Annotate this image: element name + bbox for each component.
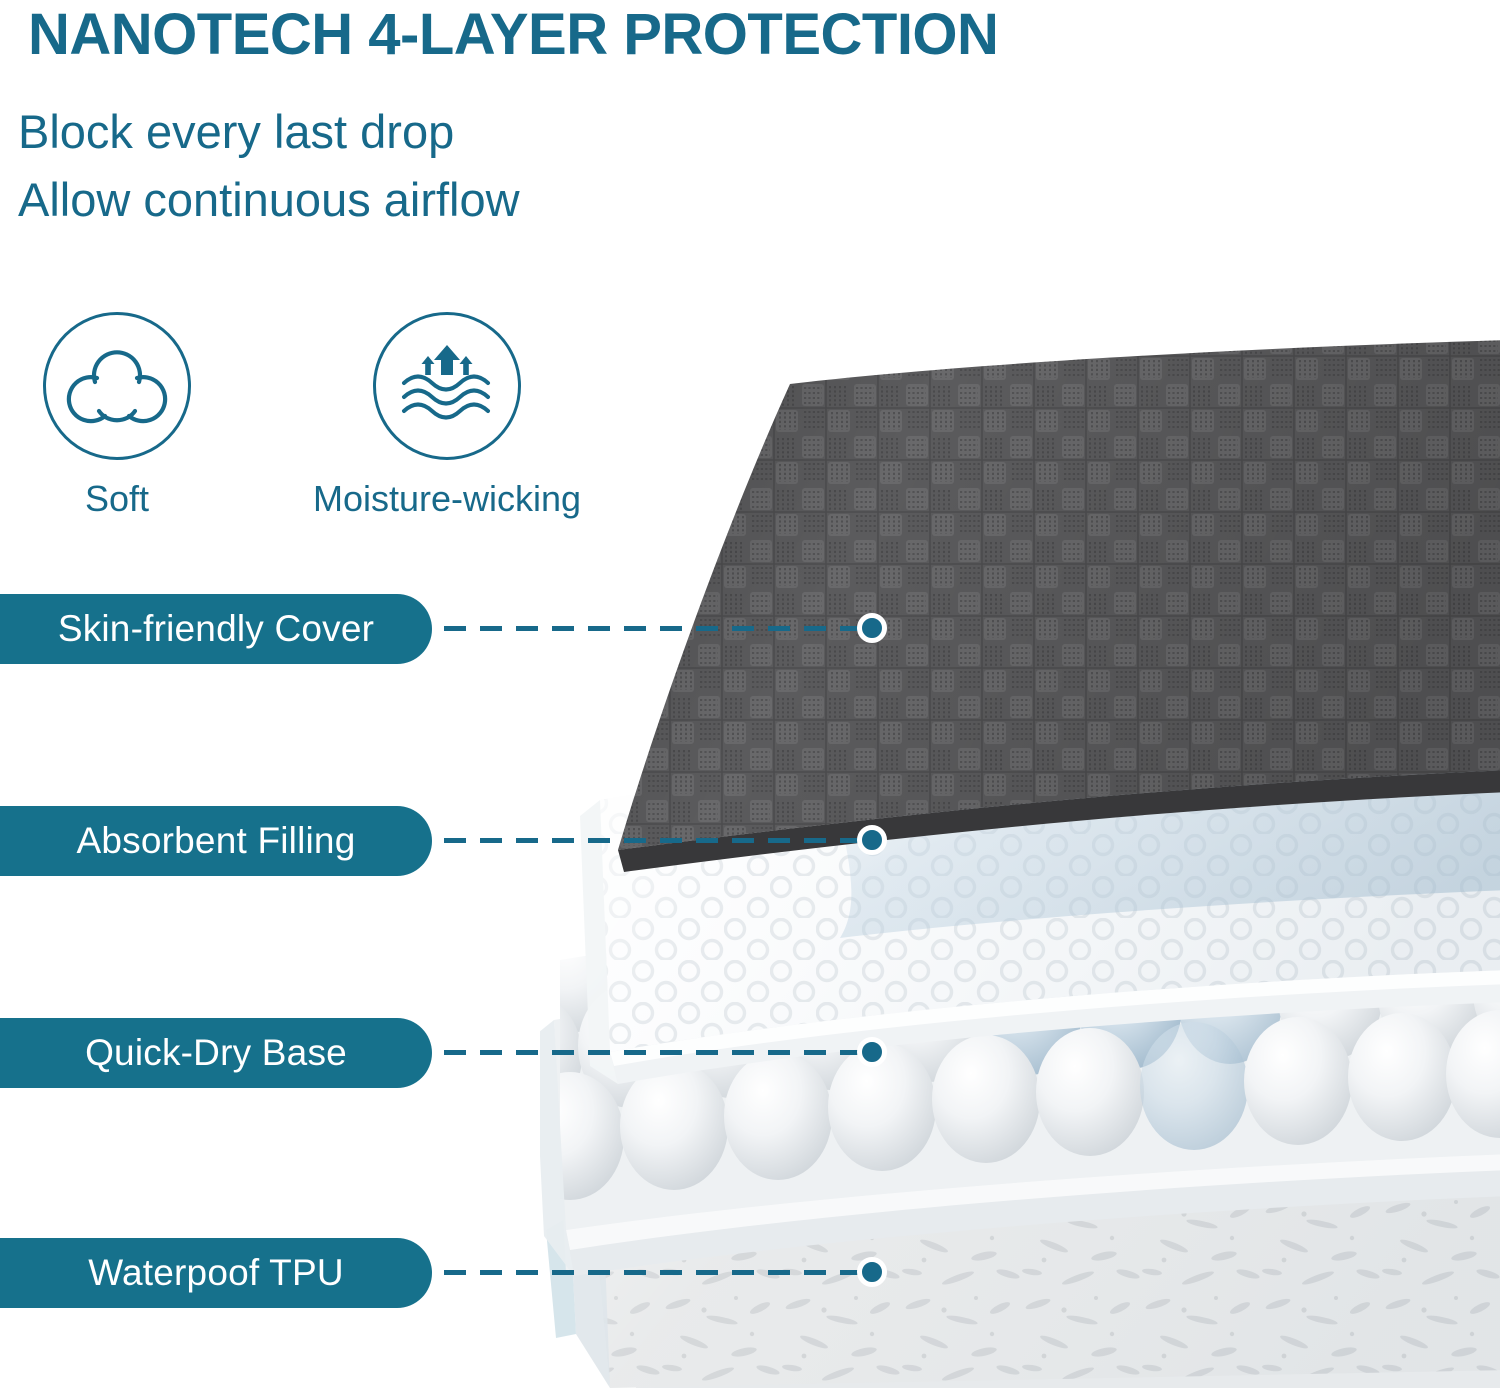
layer-skin-friendly-cover <box>618 340 1500 872</box>
subtitle-line-2: Allow continuous airflow <box>18 172 520 227</box>
feature-soft-label: Soft <box>42 478 192 520</box>
connector-dot-waterproof-tpu <box>857 1257 887 1287</box>
subtitle-line-1: Block every last drop <box>18 104 454 159</box>
connector-dot-absorbent-filling <box>857 825 887 855</box>
layer-label-skin-friendly-cover[interactable]: Skin-friendly Cover <box>0 594 432 664</box>
layer-label-absorbent-filling[interactable]: Absorbent Filling <box>0 806 432 876</box>
feature-soft: Soft <box>42 312 192 520</box>
layered-product-illustration <box>540 330 1500 1388</box>
layer-label-waterproof-tpu[interactable]: Waterpoof TPU <box>0 1238 432 1308</box>
connector-dot-quick-dry-base <box>857 1037 887 1067</box>
page-title: NANOTECH 4-LAYER PROTECTION <box>28 4 1468 67</box>
layer-label-quick-dry-base[interactable]: Quick-Dry Base <box>0 1018 432 1088</box>
connector-line-absorbent-filling <box>444 838 868 843</box>
infographic-page: NANOTECH 4-LAYER PROTECTION Block every … <box>0 0 1500 1388</box>
connector-line-quick-dry-base <box>444 1050 868 1055</box>
cloud-icon <box>43 312 191 460</box>
feature-moisture-wicking: Moisture-wicking <box>372 312 522 520</box>
connector-line-skin-friendly-cover <box>444 626 868 631</box>
connector-dot-skin-friendly-cover <box>857 613 887 643</box>
connector-line-waterproof-tpu <box>444 1270 868 1275</box>
moisture-wicking-icon <box>373 312 521 460</box>
